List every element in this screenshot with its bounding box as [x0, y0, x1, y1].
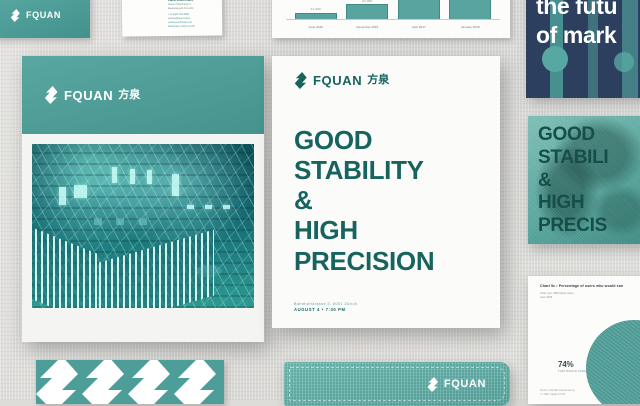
bar-chart-x-labels: June 2016 November 2016 April 2017 Janua… [290, 25, 496, 29]
logo-wordmark-cn: 方泉 [118, 90, 140, 101]
headline-line: & [538, 170, 608, 193]
bar [346, 4, 388, 20]
fquan-logo-icon [294, 72, 308, 89]
fquan-logo-icon [10, 9, 21, 22]
pie-chart-circle [586, 320, 640, 404]
x-tick-label: November 2016 [346, 25, 388, 29]
bar [398, 0, 440, 20]
bar-chart-bars: 11,200 24,000 [290, 0, 496, 20]
bar-value-label: 24,000 [362, 0, 372, 3]
pie-chart-value: 74% [558, 360, 590, 369]
poster-main: FQUAN 方泉 GOOD STABILITY & HIGH PRECISION… [272, 56, 500, 328]
logo-lockup-poster: FQUAN 方泉 [294, 72, 478, 89]
business-card-white: Marketing AG Patrik Jeanrichalle Senior … [122, 0, 223, 37]
headline-line: GOOD [294, 125, 478, 155]
headline-line: STABILI [538, 147, 608, 170]
circuit-board-photo [32, 144, 254, 308]
fquan-logo-icon [427, 377, 439, 392]
brochure-cover: FQUAN 方泉 [22, 56, 264, 342]
navy-line-2: of mark [536, 21, 617, 50]
logo-wordmark: FQUAN [26, 11, 61, 20]
pie-chart-sheet: Chart 5c • Percentage of users who would… [528, 276, 640, 404]
x-tick-label: January 2018 [449, 25, 491, 29]
poster-headline: GOOD STABILITY & HIGH PRECISION [294, 125, 478, 276]
bar-group [398, 0, 440, 20]
bar-group: 11,200 [295, 0, 337, 20]
pie-sub-line-2: June 2018 [540, 296, 640, 300]
panel-future-of-marketing: the futu of mark [526, 0, 640, 98]
poster-footer-datetime: AUGUST 4 • 7:30 PM [294, 307, 357, 312]
panel-teal-headline: GOOD STABILI & HIGH PRECIS [538, 124, 608, 238]
bar [449, 0, 491, 20]
bar-chart-sheet: 11,200 24,000 June 2016 November 2016 Ap… [272, 0, 510, 38]
bar-group [449, 0, 491, 20]
pie-chart-value-group: 74% THAT WOULD CANCEL [558, 360, 590, 373]
headline-line: HIGH [294, 215, 478, 245]
logo-wordmark: FQUAN [64, 89, 113, 102]
navy-panel-text: the futu of mark [536, 0, 617, 51]
headline-line: & [294, 185, 478, 215]
pie-chart-footnote: Source: FQUAN internal survey n = 980, m… [540, 389, 575, 398]
bar-chart: 11,200 24,000 June 2016 November 2016 Ap… [282, 0, 500, 30]
navy-line-1: the futu [536, 0, 617, 21]
card-contact-address: Bahnhofstr 5 8001 Zurich [168, 25, 214, 29]
logo-wordmark: FQUAN [313, 74, 362, 87]
headline-line: PRECISION [294, 246, 478, 276]
logo-lockup-brochure: FQUAN 方泉 [44, 86, 140, 104]
pie-chart-title: Chart 5c • Percentage of users who would… [540, 284, 640, 288]
fquan-logo-icon [44, 86, 59, 104]
pie-chart-value-label: THAT WOULD CANCEL [558, 370, 590, 373]
logo-lockup-fabric: FQUAN [427, 377, 486, 392]
x-tick-label: April 2017 [398, 25, 440, 29]
logo-pattern-svg [36, 360, 224, 404]
brochure-header: FQUAN 方泉 [22, 56, 264, 134]
x-tick-label: June 2016 [295, 25, 337, 29]
bar-group: 24,000 [346, 0, 388, 20]
card-role-line-2: Marketing and Accounts [168, 6, 214, 10]
headline-line: GOOD [538, 124, 608, 147]
logo-wordmark-cn: 方泉 [367, 75, 389, 86]
bar-value-label: 11,200 [311, 7, 321, 11]
pie-chart-subtitle: Units, surv. 980 FQuan users June 2018 [540, 292, 640, 301]
bar-chart-axis [286, 19, 500, 20]
pattern-strip [36, 360, 224, 404]
panel-good-stability-photo: GOOD STABILI & HIGH PRECIS [528, 116, 640, 244]
footnote-line-2: n = 980, margin ±3.1% [540, 393, 575, 397]
headline-line: HIGH [538, 192, 608, 215]
fabric-folder: FQUAN [284, 362, 510, 406]
headline-line: PRECIS [538, 215, 608, 238]
logo-lockup-card-teal: FQUAN [10, 9, 61, 22]
logo-wordmark: FQUAN [444, 379, 486, 390]
logo-pattern [36, 360, 224, 404]
poster-footer: Bahnhofstrasse 5, 8001 Zürich AUGUST 4 •… [294, 301, 357, 312]
headline-line: STABILITY [294, 155, 478, 185]
business-card-teal: FQUAN [0, 0, 90, 38]
